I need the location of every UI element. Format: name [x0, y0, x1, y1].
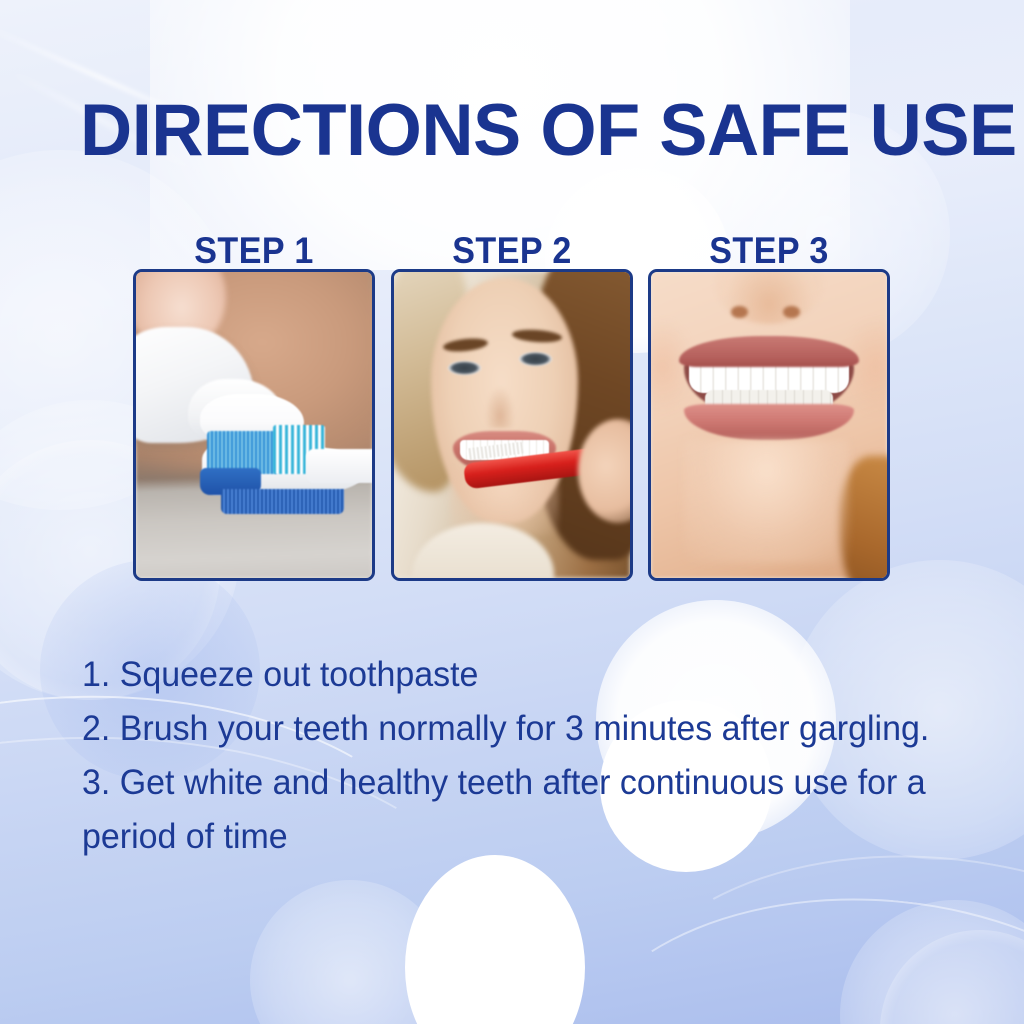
step-photo-3 [648, 269, 890, 581]
toothpaste-on-brush-illustration [136, 272, 372, 578]
bokeh-circle [880, 930, 1024, 1024]
step-photo-2 [391, 269, 633, 581]
instruction-item: 2. Brush your teeth normally for 3 minut… [82, 702, 936, 756]
step-photo-1 [133, 269, 375, 581]
swoosh-arc-icon [540, 868, 1024, 1024]
bokeh-circle [405, 855, 585, 1024]
woman-brushing-teeth-illustration [394, 272, 630, 578]
white-smile-closeup-illustration [651, 272, 887, 578]
step-card-2: STEP 2 [391, 232, 633, 581]
instruction-item: 1. Squeeze out toothpaste [82, 648, 936, 702]
steps-row: STEP 1 STEP 2 [133, 232, 890, 581]
step-label-2: STEP 2 [400, 232, 623, 270]
step-card-1: STEP 1 [133, 232, 375, 581]
instruction-item: 3. Get white and healthy teeth after con… [82, 756, 936, 864]
bokeh-circle [840, 900, 1024, 1024]
step-label-1: STEP 1 [143, 232, 366, 270]
product-infographic-poster: DIRECTIONS OF SAFE USE STEP 1 [0, 0, 1024, 1024]
step-label-3: STEP 3 [658, 232, 881, 270]
page-title: DIRECTIONS OF SAFE USE [80, 92, 951, 170]
bokeh-circle [250, 880, 450, 1024]
instructions-list: 1. Squeeze out toothpaste 2. Brush your … [82, 648, 936, 864]
step-card-3: STEP 3 [648, 232, 890, 581]
